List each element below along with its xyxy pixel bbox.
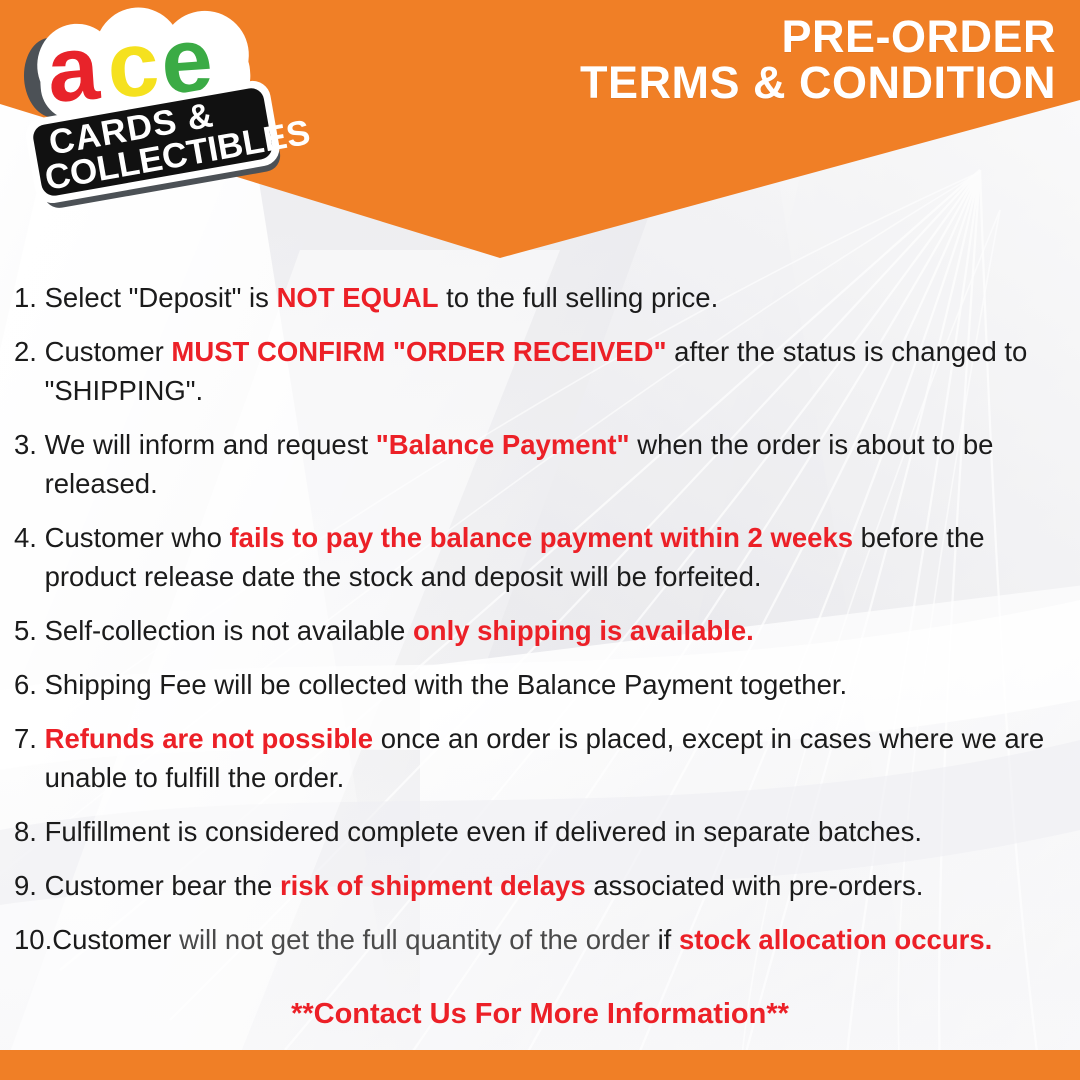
term-text: Customer will not get the full quantity … bbox=[52, 920, 1066, 959]
term-item: 8. Fulfillment is considered complete ev… bbox=[14, 812, 1066, 851]
term-number: 4. bbox=[14, 518, 45, 557]
page-title: PRE-ORDER TERMS & CONDITION bbox=[580, 14, 1056, 107]
term-text: Shipping Fee will be collected with the … bbox=[45, 665, 1066, 704]
term-text: Fulfillment is considered complete even … bbox=[45, 812, 1066, 851]
term-segment: Customer who bbox=[45, 522, 230, 553]
term-number: 9. bbox=[14, 866, 45, 905]
terms-list: 1. Select "Deposit" is NOT EQUAL to the … bbox=[14, 278, 1066, 974]
term-item: 7. Refunds are not possible once an orde… bbox=[14, 719, 1066, 797]
term-text: Customer MUST CONFIRM "ORDER RECEIVED" a… bbox=[45, 332, 1066, 410]
term-text: Customer bear the risk of shipment delay… bbox=[45, 866, 1066, 905]
term-highlight: MUST CONFIRM "ORDER RECEIVED" bbox=[171, 336, 666, 367]
term-item: 6. Shipping Fee will be collected with t… bbox=[14, 665, 1066, 704]
term-segment: Customer bbox=[52, 924, 171, 955]
pre-order-terms-poster: a c e CARDS & COLLECTIBLES PRE-ORDER TER… bbox=[0, 0, 1080, 1080]
title-line-terms-condition: TERMS & CONDITION bbox=[580, 60, 1056, 106]
term-text: We will inform and request "Balance Paym… bbox=[45, 425, 1066, 503]
term-segment: Shipping Fee will be collected with the … bbox=[45, 669, 848, 700]
term-segment: to the full selling price. bbox=[439, 282, 719, 313]
term-item: 5. Self-collection is not available only… bbox=[14, 611, 1066, 650]
term-number: 5. bbox=[14, 611, 45, 650]
term-segment: Select "Deposit" is bbox=[45, 282, 277, 313]
term-number: 3. bbox=[14, 425, 45, 464]
term-segment: will not get the full quantity of the or… bbox=[171, 924, 657, 955]
term-text: Self-collection is not available only sh… bbox=[45, 611, 1066, 650]
term-segment: Customer bbox=[45, 336, 172, 367]
term-item: 4. Customer who fails to pay the balance… bbox=[14, 518, 1066, 596]
term-highlight: stock allocation occurs. bbox=[679, 924, 992, 955]
term-number: 7. bbox=[14, 719, 45, 758]
term-text: Select "Deposit" is NOT EQUAL to the ful… bbox=[45, 278, 1066, 317]
term-highlight: fails to pay the balance payment within … bbox=[230, 522, 854, 553]
term-text: Customer who fails to pay the balance pa… bbox=[45, 518, 1066, 596]
term-number: 2. bbox=[14, 332, 45, 371]
term-highlight: only shipping is available. bbox=[413, 615, 754, 646]
term-segment: We will inform and request bbox=[45, 429, 376, 460]
term-highlight: risk of shipment delays bbox=[280, 870, 586, 901]
ace-cards-collectibles-logo: a c e CARDS & COLLECTIBLES bbox=[12, 2, 312, 212]
term-segment: Fulfillment is considered complete even … bbox=[45, 816, 922, 847]
term-number: 10. bbox=[14, 920, 52, 959]
term-item: 2. Customer MUST CONFIRM "ORDER RECEIVED… bbox=[14, 332, 1066, 410]
term-number: 6. bbox=[14, 665, 45, 704]
term-segment: Self-collection is not available bbox=[45, 615, 413, 646]
term-segment: if bbox=[658, 924, 679, 955]
term-highlight: NOT EQUAL bbox=[277, 282, 439, 313]
term-number: 1. bbox=[14, 278, 45, 317]
term-item: 9. Customer bear the risk of shipment de… bbox=[14, 866, 1066, 905]
term-highlight: "Balance Payment" bbox=[376, 429, 630, 460]
title-line-pre-order: PRE-ORDER bbox=[580, 14, 1056, 60]
term-item: 10.Customer will not get the full quanti… bbox=[14, 920, 1066, 959]
term-segment: Customer bear the bbox=[45, 870, 280, 901]
svg-text:a: a bbox=[44, 16, 103, 121]
term-highlight: Refunds are not possible bbox=[45, 723, 374, 754]
contact-note: **Contact Us For More Information** bbox=[0, 998, 1080, 1031]
term-segment: associated with pre-orders. bbox=[586, 870, 924, 901]
term-number: 8. bbox=[14, 812, 45, 851]
term-item: 1. Select "Deposit" is NOT EQUAL to the … bbox=[14, 278, 1066, 317]
term-item: 3. We will inform and request "Balance P… bbox=[14, 425, 1066, 503]
bottom-orange-bar bbox=[0, 1050, 1080, 1080]
term-text: Refunds are not possible once an order i… bbox=[45, 719, 1066, 797]
